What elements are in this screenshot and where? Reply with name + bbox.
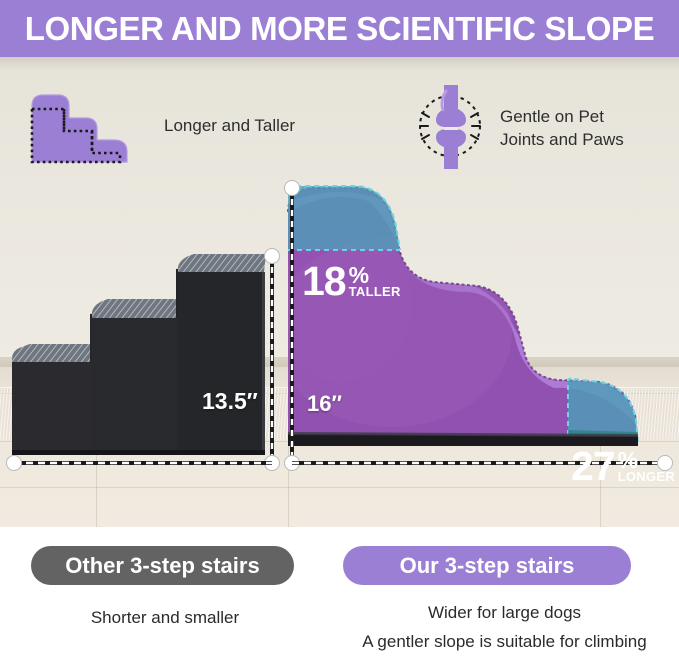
longer-badge-sublabel: LONGER xyxy=(618,470,675,484)
longer-badge: 27 % LONGER xyxy=(571,448,675,486)
pill-other-stairs: Other 3-step stairs xyxy=(31,546,294,585)
taller-badge: 18 % TALLER xyxy=(302,263,401,301)
longer-badge-number: 27 xyxy=(571,448,615,486)
ours-height-label: 16″ xyxy=(307,391,342,417)
taller-badge-percent: % xyxy=(349,265,369,286)
longer-badge-percent: % xyxy=(618,450,638,471)
comparison-footer: Other 3-step stairs Our 3-step stairs Sh… xyxy=(0,527,679,657)
taller-badge-sublabel: TALLER xyxy=(349,285,401,299)
header-banner: LONGER AND MORE SCIENTIFIC SLOPE xyxy=(0,0,679,57)
page-title: LONGER AND MORE SCIENTIFIC SLOPE xyxy=(25,10,655,48)
product-comparison-scene: Longer and Taller Gentle on Pet Joints a… xyxy=(0,57,679,527)
other-height-label: 13.5″ xyxy=(202,388,258,415)
caption-our-stairs-2: A gentler slope is suitable for climbing xyxy=(330,632,679,652)
caption-our-stairs-1: Wider for large dogs xyxy=(330,603,679,623)
taller-badge-number: 18 xyxy=(302,263,346,301)
pill-our-stairs: Our 3-step stairs xyxy=(343,546,631,585)
caption-other-stairs: Shorter and smaller xyxy=(0,608,330,628)
